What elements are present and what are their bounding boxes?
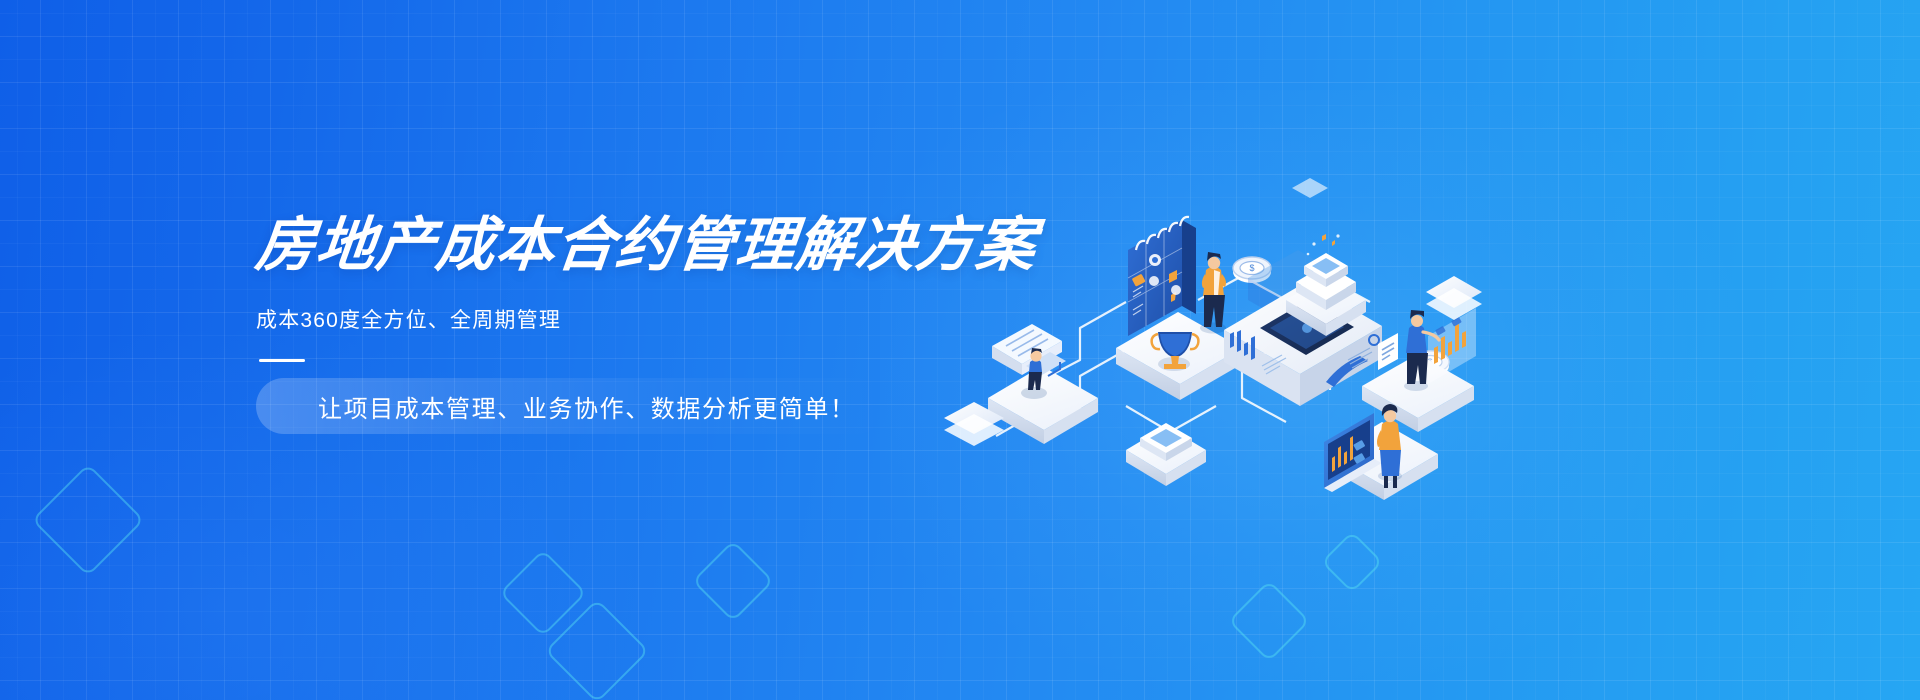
person-standing-male: [1200, 252, 1226, 334]
diamond-bottom-center: [692, 540, 774, 622]
banner-subtitle: 成本360度全方位、全周期管理: [256, 304, 1036, 334]
hero-banner: $ $ $: [0, 0, 1920, 700]
svg-text:$: $: [1249, 263, 1254, 273]
banner-title: 房地产成本合约管理解决方案: [253, 214, 1040, 278]
diamond-mid-right: [1321, 531, 1383, 593]
calendar-platform-group: [1116, 217, 1242, 400]
chart-panel: [1428, 308, 1476, 384]
diamond-bottom-right: [1228, 580, 1310, 662]
small-lower-platform: [1126, 423, 1206, 486]
title-divider: [259, 359, 305, 362]
banner-tagline-pill: 让项目成本管理、业务协作、数据分析更简单！: [256, 378, 886, 434]
banner-text-block: 房地产成本合约管理解决方案 成本360度全方位、全周期管理: [256, 214, 1036, 362]
diamond-bottom-left-lower: [545, 599, 650, 700]
diamond-bottom-left: [31, 463, 144, 576]
diamond-bottom-left-small: [499, 549, 587, 637]
banner-tagline: 让项目成本管理、业务协作、数据分析更简单！: [318, 389, 856, 424]
